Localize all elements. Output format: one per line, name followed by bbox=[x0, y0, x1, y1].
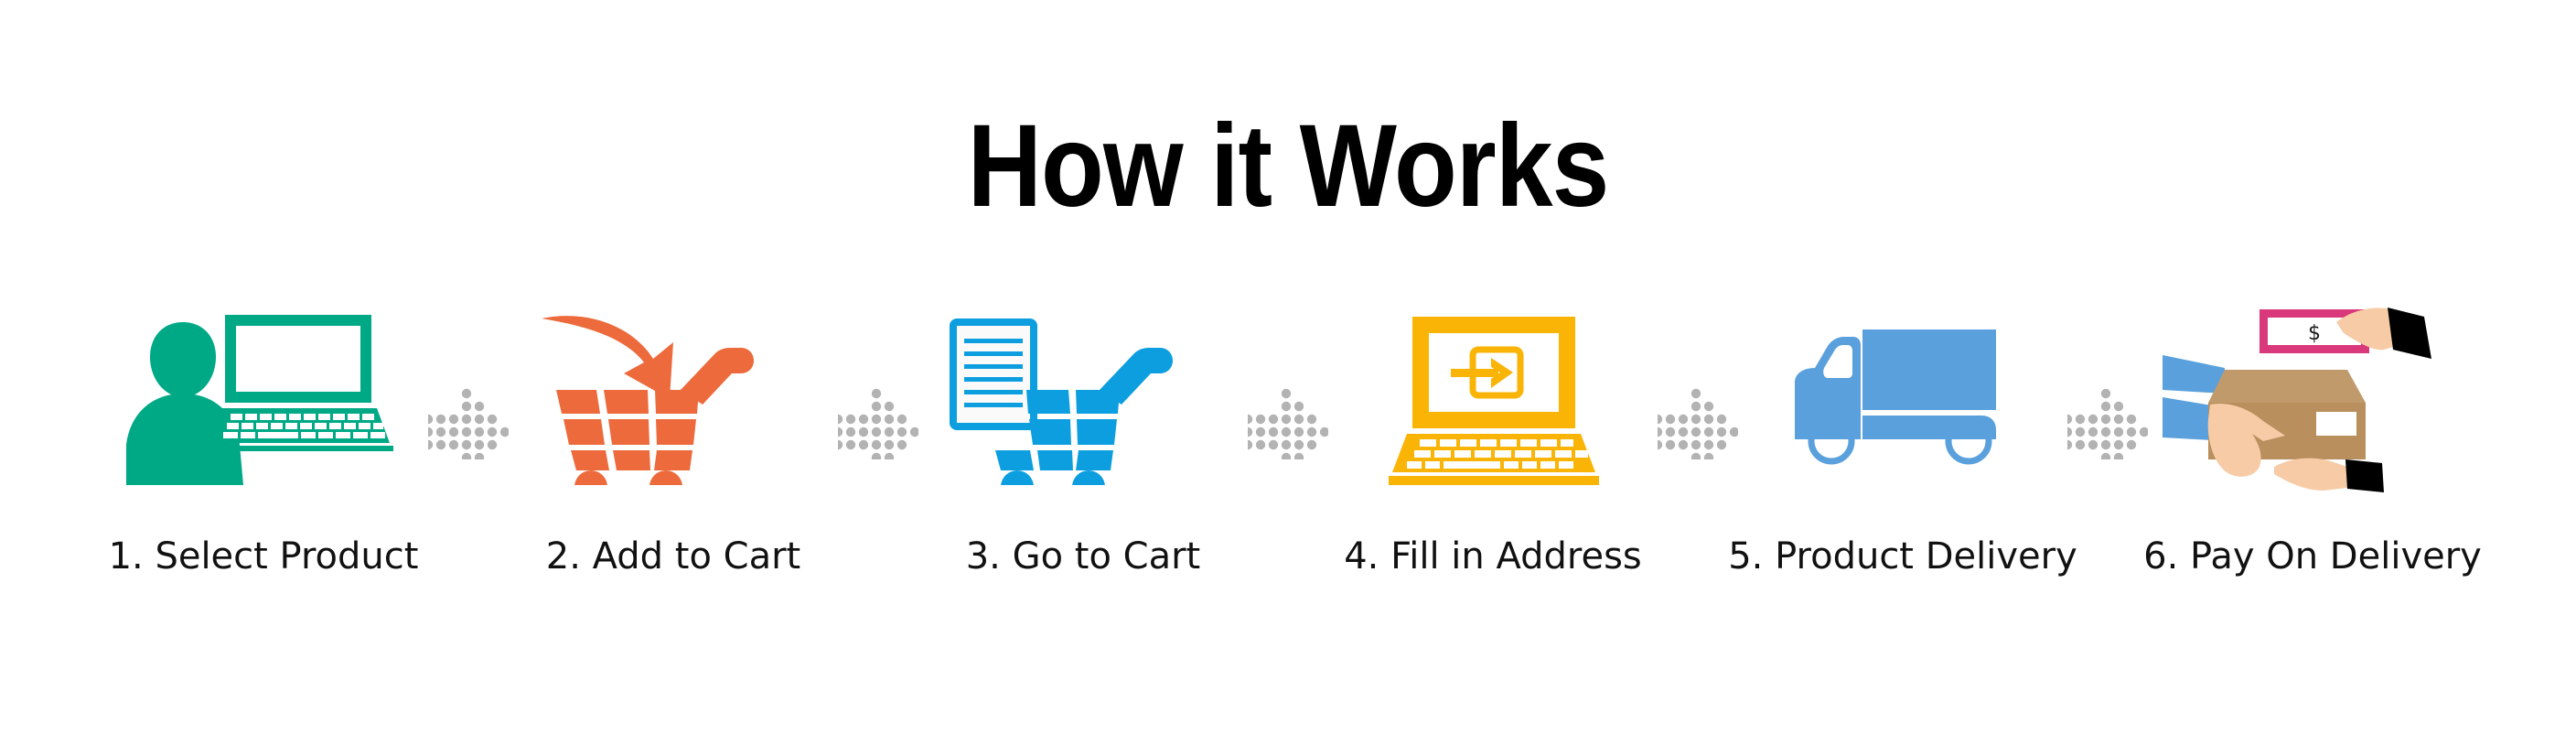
page-title: How it Works bbox=[155, 108, 2421, 225]
step-label: 1. Select Product bbox=[84, 536, 443, 577]
step-label: 4. Fill in Address bbox=[1314, 536, 1672, 577]
hands-exchange-box-cash-icon: $ bbox=[2133, 302, 2492, 522]
delivery-truck-icon bbox=[1723, 302, 2082, 522]
laptop-login-icon bbox=[1314, 302, 1672, 522]
step-separator bbox=[1672, 302, 1723, 613]
step-separator bbox=[2082, 302, 2133, 613]
step-label: 3. Go to Cart bbox=[904, 536, 1262, 577]
step-5-product-delivery[interactable]: 5. Product Delivery bbox=[1723, 302, 2082, 613]
step-separator bbox=[1262, 302, 1314, 613]
person-at-laptop-icon bbox=[84, 302, 443, 522]
step-label: 5. Product Delivery bbox=[1723, 536, 2082, 577]
step-3-go-to-cart[interactable]: 3. Go to Cart bbox=[904, 302, 1262, 613]
step-label: 2. Add to Cart bbox=[494, 536, 853, 577]
step-6-pay-on-delivery[interactable]: $ 6. Pay bbox=[2133, 302, 2492, 613]
step-separator bbox=[853, 302, 904, 613]
step-label: 6. Pay On Delivery bbox=[2133, 536, 2492, 577]
step-4-fill-in-address[interactable]: 4. Fill in Address bbox=[1314, 302, 1672, 613]
banknote-dollar-symbol: $ bbox=[2308, 322, 2321, 345]
step-1-select-product[interactable]: 1. Select Product bbox=[84, 302, 443, 613]
document-and-cart-icon bbox=[904, 302, 1262, 522]
step-2-add-to-cart[interactable]: 2. Add to Cart bbox=[494, 302, 853, 613]
steps-container: 1. Select Product bbox=[0, 302, 2576, 613]
step-separator bbox=[443, 302, 494, 613]
cart-with-arrow-icon bbox=[494, 302, 853, 522]
